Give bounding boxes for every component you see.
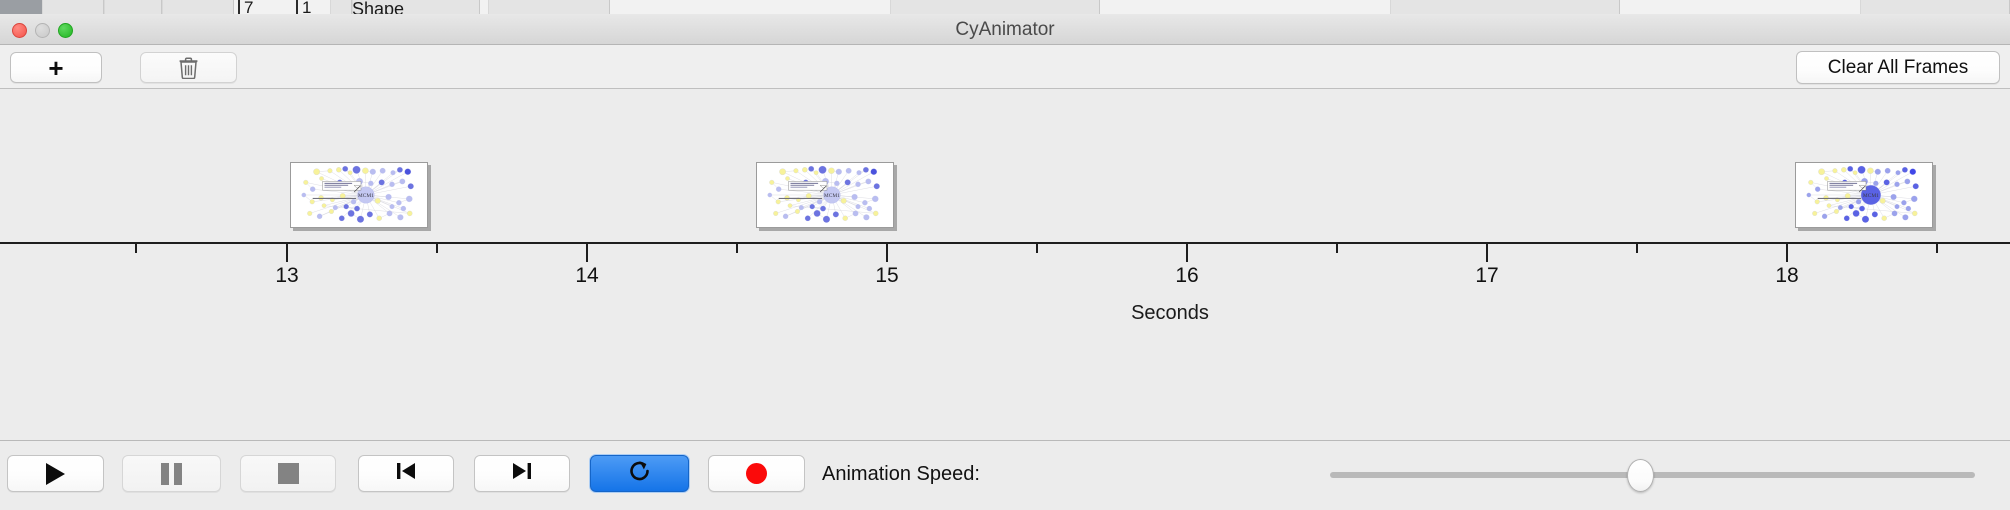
ruler-tick: [1936, 244, 1938, 253]
ruler-tick: [586, 244, 588, 262]
ruler-tick-label: 17: [1475, 264, 1498, 288]
clear-all-frames-button[interactable]: Clear All Frames: [1796, 51, 2000, 84]
clear-all-frames-label: Clear All Frames: [1828, 57, 1968, 79]
delete-frame-button[interactable]: [140, 52, 237, 83]
loop-button[interactable]: [590, 455, 689, 492]
svg-text:MCM1: MCM1: [1863, 193, 1879, 199]
ruler-tick: [1486, 244, 1488, 262]
ruler-tick: [1186, 244, 1188, 262]
pause-icon: [161, 463, 182, 485]
ruler-tick: [286, 244, 288, 262]
ruler-tick-label: 13: [275, 264, 298, 288]
window-titlebar: CyAnimator: [0, 14, 2010, 45]
add-frame-button[interactable]: +: [10, 52, 102, 83]
window-controls: [12, 23, 73, 38]
animation-speed-label: Animation Speed:: [822, 463, 980, 486]
timeline-frame-thumbnail[interactable]: MCM1: [756, 162, 894, 228]
skip-to-end-icon: [510, 460, 534, 487]
animation-speed-slider[interactable]: [1330, 472, 1975, 478]
ruler-tick-label: 14: [575, 264, 598, 288]
skip-to-end-button[interactable]: [474, 455, 570, 492]
playback-controls-bar: Animation Speed:: [0, 440, 2010, 510]
timeline-panel[interactable]: MCM1MCM1MCM1 2131415161718 Seconds: [0, 90, 2010, 412]
trash-icon: [179, 57, 198, 79]
skip-to-start-icon: [394, 460, 418, 487]
loop-icon: [627, 459, 653, 488]
ruler-tick: [1786, 244, 1788, 262]
ruler-tick: [1036, 244, 1038, 253]
timeline-ruler: 2131415161718: [0, 242, 2010, 302]
background-window-label: Shape: [352, 0, 404, 14]
page-title: CyAnimator: [0, 14, 2010, 45]
skip-to-start-button[interactable]: [358, 455, 454, 492]
stop-button[interactable]: [240, 455, 336, 492]
pause-button[interactable]: [122, 455, 221, 492]
record-button[interactable]: [708, 455, 805, 492]
ruler-tick: [886, 244, 888, 262]
timeline-frame-thumbnail[interactable]: MCM1: [290, 162, 428, 228]
timeline-frame-thumbnail[interactable]: MCM1: [1795, 162, 1933, 228]
frame-track[interactable]: MCM1MCM1MCM1: [0, 90, 2010, 242]
play-button[interactable]: [7, 455, 104, 492]
close-icon[interactable]: [12, 23, 27, 38]
ruler-tick: [135, 244, 137, 253]
ruler-tick-label: 18: [1775, 264, 1798, 288]
ruler-tick: [1336, 244, 1338, 253]
frame-toolbar: + Clear All Frames: [0, 45, 2010, 89]
record-icon: [746, 463, 767, 484]
svg-text:MCM1: MCM1: [824, 193, 840, 199]
animation-speed-slider-thumb[interactable]: [1627, 459, 1654, 492]
maximize-icon[interactable]: [58, 23, 73, 38]
ruler-baseline: [0, 242, 2010, 244]
ruler-tick: [436, 244, 438, 253]
background-window-strip: 7 1 Shape: [0, 0, 2010, 14]
axis-title: Seconds: [0, 302, 2010, 325]
minimize-icon[interactable]: [35, 23, 50, 38]
ruler-tick-label: 15: [875, 264, 898, 288]
plus-icon: +: [48, 55, 63, 81]
ruler-tick: [736, 244, 738, 253]
stop-icon: [278, 463, 299, 484]
ruler-tick: [1636, 244, 1638, 253]
play-icon: [46, 463, 65, 485]
cyanimator-window: 7 1 Shape CyAnimator +: [0, 0, 2010, 510]
ruler-tick-label: 16: [1175, 264, 1198, 288]
svg-text:MCM1: MCM1: [358, 193, 374, 199]
